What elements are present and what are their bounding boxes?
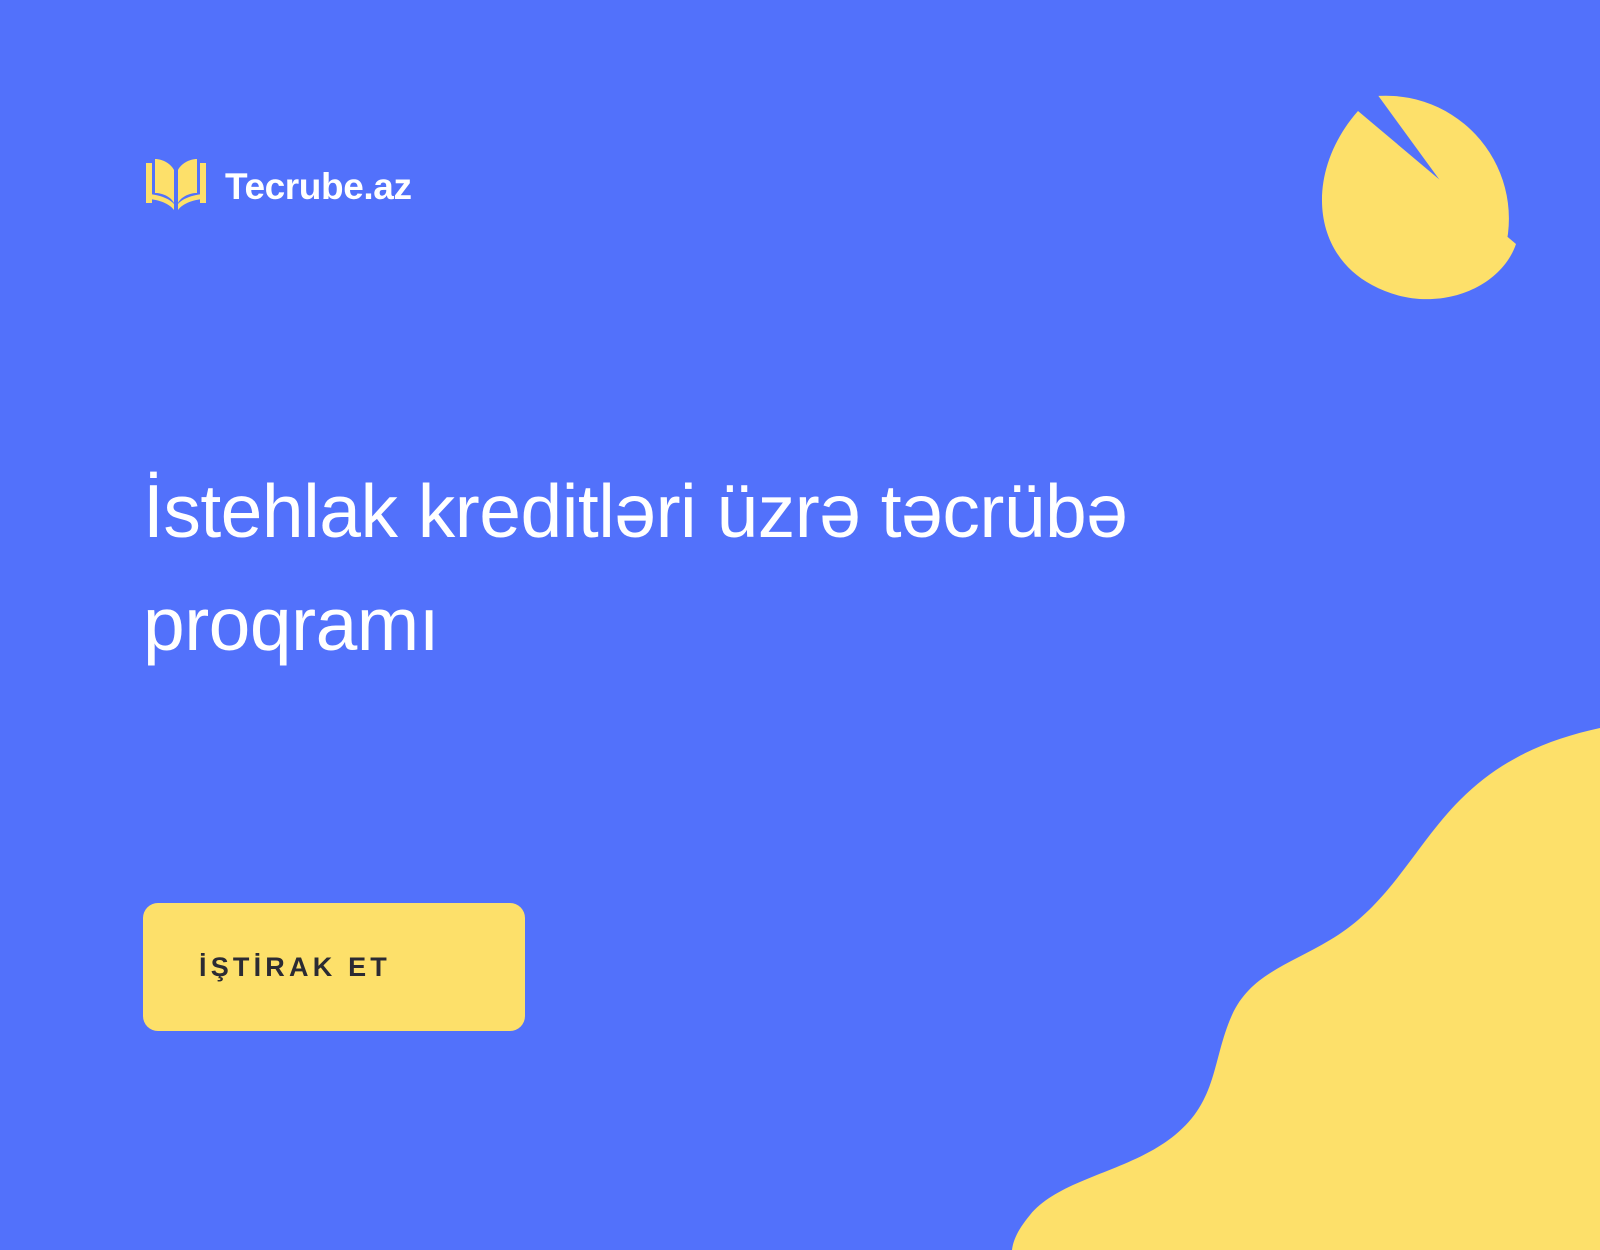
wave-blob-shape	[1012, 728, 1600, 1250]
promo-poster: Tecrube.az İstehlak kreditləri üzrə təcr…	[0, 0, 1600, 1250]
open-book-icon	[143, 155, 209, 217]
brand-logo[interactable]: Tecrube.az	[143, 155, 412, 217]
brand-name: Tecrube.az	[225, 168, 412, 205]
page-title: İstehlak kreditləri üzrə təcrübə proqram…	[143, 455, 1403, 681]
participate-button[interactable]: İŞTİRAK ET	[143, 903, 525, 1031]
half-circle-shape	[1322, 90, 1535, 299]
